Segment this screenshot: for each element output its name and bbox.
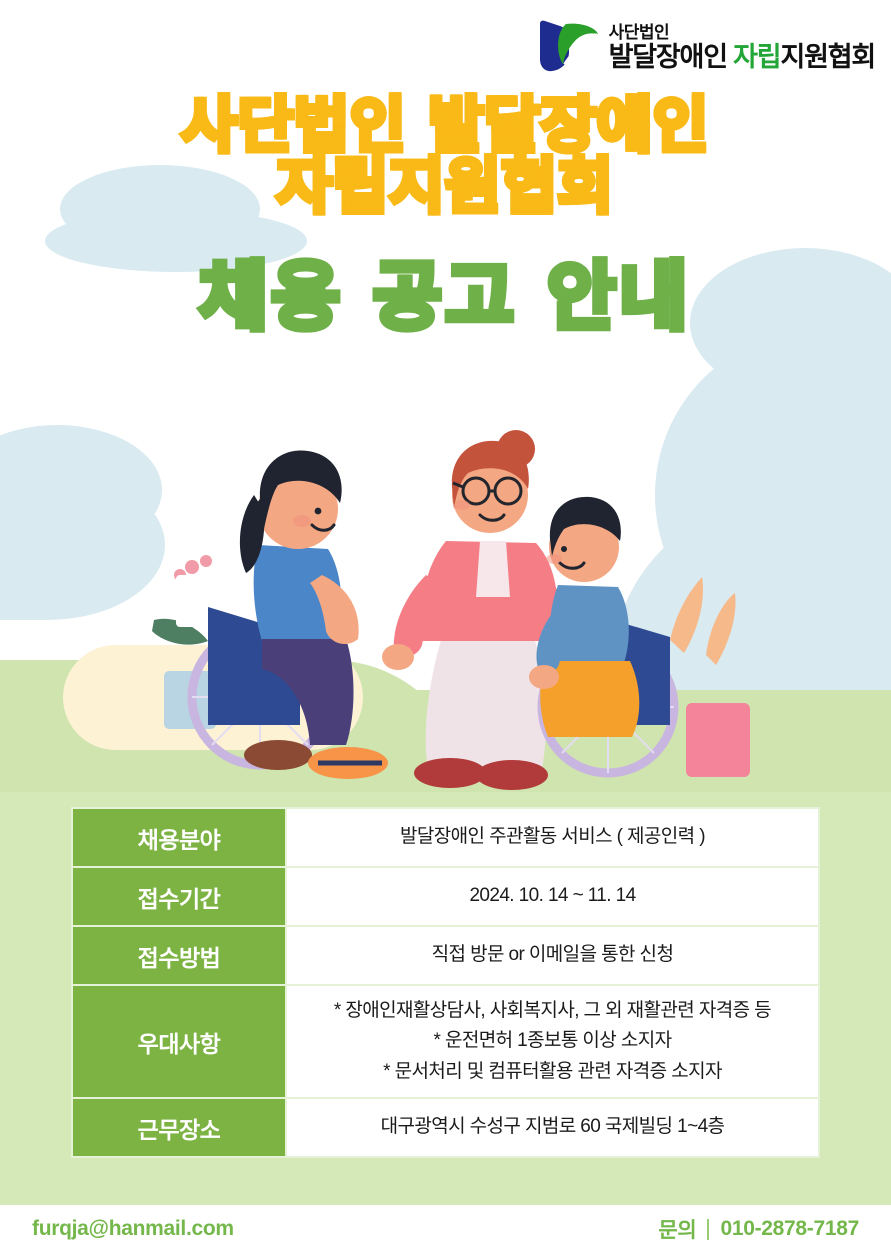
- recruitment-info-table: 채용분야 발달장애인 주관활동 서비스 ( 제공인력 ) 접수기간 2024. …: [71, 807, 820, 1158]
- table-row: 근무장소 대구광역시 수성구 지범로 60 국제빌딩 1~4층: [72, 1098, 819, 1157]
- row-label: 근무장소: [72, 1098, 286, 1157]
- row-value: 직접 방문 or 이메일을 통한 신청: [286, 926, 819, 985]
- row-value: 발달장애인 주관활동 서비스 ( 제공인력 ): [286, 808, 819, 867]
- contact-phone[interactable]: 010-2878-7187: [720, 1217, 859, 1241]
- row-value-line: 직접 방문 or 이메일을 통한 신청: [299, 940, 806, 970]
- row-value-line: 2024. 10. 14 ~ 11. 14: [299, 881, 806, 911]
- divider-icon: [707, 1219, 709, 1240]
- table-row: 접수방법 직접 방문 or 이메일을 통한 신청: [72, 926, 819, 985]
- row-value-line: * 장애인재활상담사, 사회복지사, 그 외 재활관련 자격증 등: [299, 996, 806, 1026]
- logo-line-1: 사단법인: [609, 24, 875, 41]
- poster-title-block: 사단법인 발달장애인 자립지원협회 채용 공고 안내: [0, 96, 891, 334]
- footer-content: furqja@hanmail.com 문의 010-2878-7187: [0, 1214, 891, 1244]
- figure-boy-wheelchair: [529, 497, 674, 773]
- logo-line-2-highlight: 자립: [733, 42, 780, 72]
- row-value-line: * 운전면허 1종보통 이상 소지자: [299, 1026, 806, 1056]
- row-value-line: * 문서처리 및 컴퓨터활용 관련 자격증 소지자: [299, 1057, 806, 1087]
- row-value-line: 발달장애인 주관활동 서비스 ( 제공인력 ): [299, 822, 806, 852]
- contact-email[interactable]: furqja@hanmail.com: [32, 1217, 234, 1241]
- contact-label: 문의: [658, 1214, 696, 1244]
- row-value: 대구광역시 수성구 지범로 60 국제빌딩 1~4층: [286, 1098, 819, 1157]
- logo-line-2: 발달장애인 자립지원협회: [609, 44, 875, 71]
- table-row: 채용분야 발달장애인 주관활동 서비스 ( 제공인력 ): [72, 808, 819, 867]
- table-row: 접수기간 2024. 10. 14 ~ 11. 14: [72, 867, 819, 926]
- figure-woman-wheelchair: [192, 450, 388, 779]
- logo-line-2-c: 지원협회: [780, 42, 875, 72]
- leaf-bird-logo-icon: [536, 18, 602, 76]
- people-illustration: [150, 425, 770, 800]
- row-value: * 장애인재활상담사, 사회복지사, 그 외 재활관련 자격증 등 * 운전면허…: [286, 985, 819, 1098]
- organization-logo: 사단법인 발달장애인 자립지원협회: [536, 18, 875, 76]
- poster-title-line-2: 자립지원협회: [0, 157, 891, 218]
- plant-left-icon: [152, 555, 216, 729]
- recruitment-poster: 사단법인 발달장애인 자립지원협회 사단법인 발달장애인 자립지원협회 채용 공…: [0, 0, 891, 1260]
- logo-wordmark: 사단법인 발달장애인 자립지원협회: [609, 24, 875, 71]
- plant-right-icon: [670, 577, 750, 777]
- row-value: 2024. 10. 14 ~ 11. 14: [286, 867, 819, 926]
- table-row: 우대사항 * 장애인재활상담사, 사회복지사, 그 외 재활관련 자격증 등 *…: [72, 985, 819, 1098]
- logo-line-2-a: 발달장애인: [609, 42, 734, 72]
- row-label: 채용분야: [72, 808, 286, 867]
- poster-footer: furqja@hanmail.com 문의 010-2878-7187: [0, 1205, 891, 1260]
- poster-title-line-1: 사단법인 발달장애인: [0, 96, 891, 157]
- contact-phone-group: 문의 010-2878-7187: [658, 1214, 859, 1244]
- row-label: 우대사항: [72, 985, 286, 1098]
- poster-subtitle: 채용 공고 안내: [0, 260, 891, 334]
- row-label: 접수방법: [72, 926, 286, 985]
- row-value-line: 대구광역시 수성구 지범로 60 국제빌딩 1~4층: [299, 1112, 806, 1142]
- table-body: 채용분야 발달장애인 주관활동 서비스 ( 제공인력 ) 접수기간 2024. …: [72, 808, 819, 1157]
- row-label: 접수기간: [72, 867, 286, 926]
- figure-woman-glasses: [382, 430, 567, 790]
